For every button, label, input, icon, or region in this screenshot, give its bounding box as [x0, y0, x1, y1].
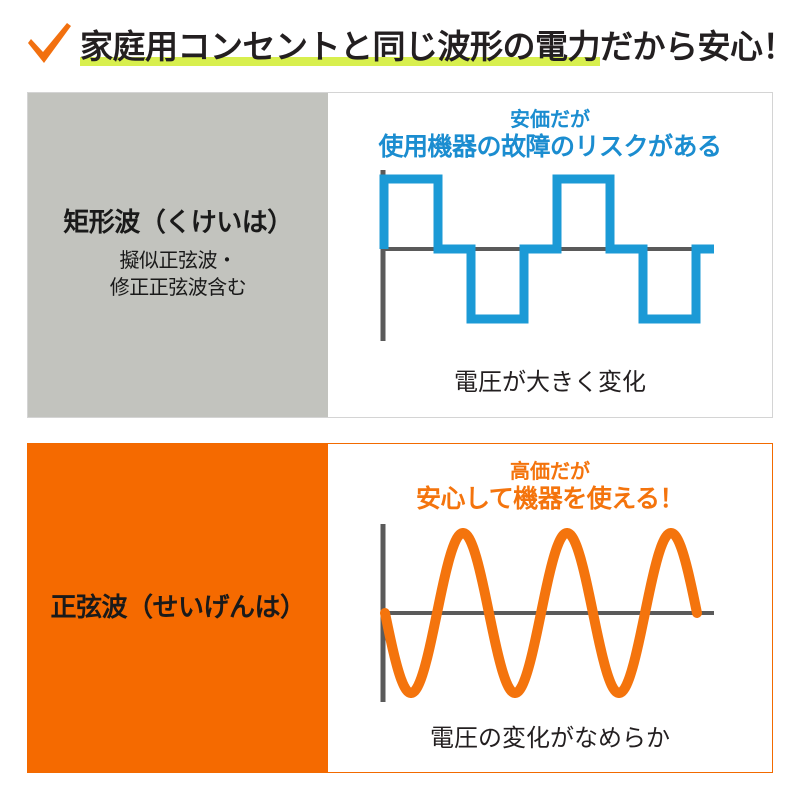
square-wave-caption-top: 安価だが 使用機器の故障のリスクがある: [378, 109, 721, 162]
header: 家庭用コンセントと同じ波形の電力だから安心！: [0, 0, 800, 88]
sine-wave-caption-bottom: 電圧の変化がなめらか: [430, 718, 670, 753]
headline-highlighted-text: 家庭用コンセントと同じ波形の電力: [80, 28, 600, 66]
sine-wave-title: 正弦波（せいげんは）: [50, 593, 305, 623]
sine-wave-chart-cell: 高価だが 安心して機器を使える！ 電圧の変化がなめらか: [328, 444, 772, 772]
square-wave-chart-cell: 安価だが 使用機器の故障のリスクがある 電圧が大きく変化: [328, 93, 772, 417]
square-wave-title: 矩形波（くけいは）: [63, 208, 293, 238]
sine-wave-label-cell: 正弦波（せいげんは）: [28, 444, 328, 772]
panel-sine-wave: 正弦波（せいげんは） 高価だが 安心して機器を使える！ 電圧の変化がなめらか: [27, 443, 773, 773]
check-icon: [22, 18, 74, 70]
square-wave-subtitle: 擬似正弦波・ 修正正弦波含む: [110, 248, 247, 302]
page-title: 家庭用コンセントと同じ波形の電力だから安心！: [80, 30, 795, 63]
square-wave-caption-bottom: 電圧が大きく変化: [454, 362, 646, 397]
headline-plain-text: だから安心！: [600, 28, 795, 65]
sine-wave-caption-big: 安心して機器を使える！: [416, 485, 684, 515]
panel-square-wave: 矩形波（くけいは） 擬似正弦波・ 修正正弦波含む 安価だが 使用機器の故障のリス…: [27, 92, 773, 418]
square-wave-label-cell: 矩形波（くけいは） 擬似正弦波・ 修正正弦波含む: [28, 93, 328, 417]
square-wave-subtitle-line1: 擬似正弦波・: [120, 250, 237, 272]
square-wave-caption-big: 使用機器の故障のリスクがある: [378, 133, 721, 163]
square-wave-subtitle-line2: 修正正弦波含む: [110, 277, 247, 299]
square-wave-chart: [374, 166, 726, 356]
square-wave-caption-small: 安価だが: [378, 109, 721, 133]
sine-wave-chart: [374, 518, 726, 714]
sine-wave-caption-small: 高価だが: [416, 461, 684, 485]
sine-wave-caption-top: 高価だが 安心して機器を使える！: [416, 461, 684, 514]
